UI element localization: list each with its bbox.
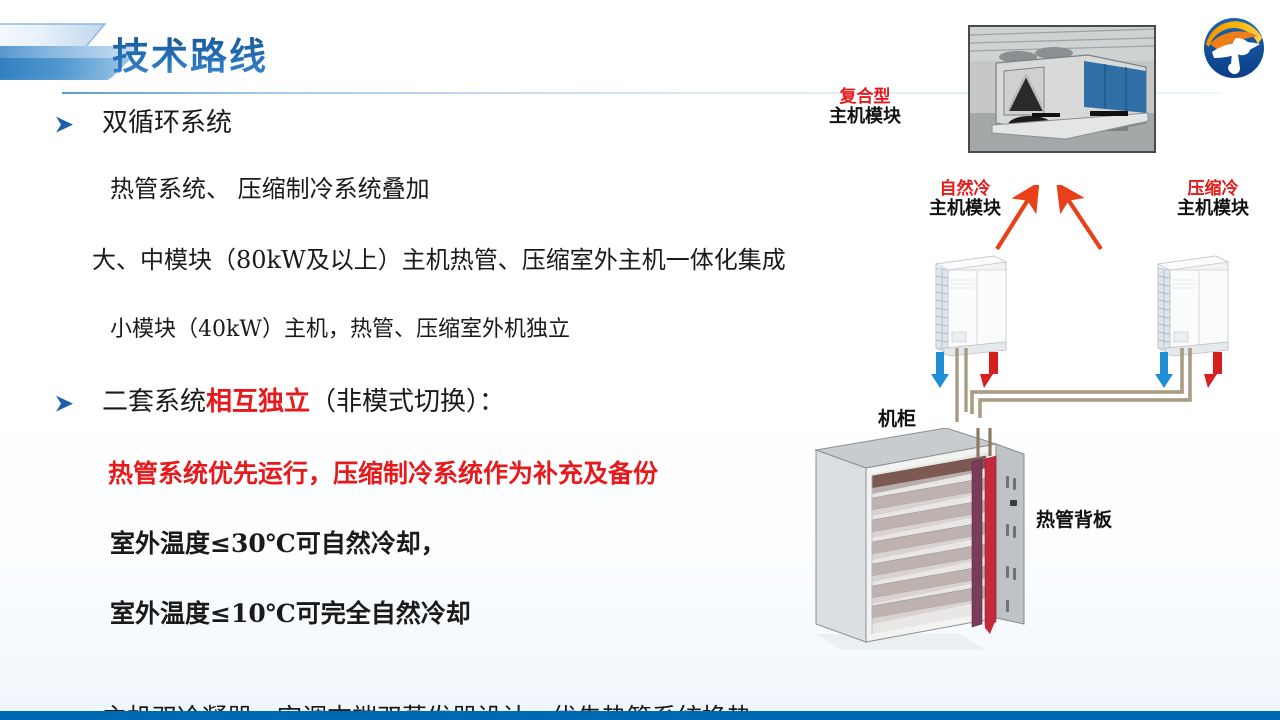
bullet-text-7: 室外温度≤30℃可自然冷却， [110,529,446,558]
label-heatpipe-backplane: 热管背板 [1036,505,1112,532]
system-diagram: 复合型 主机模块 自然冷 主机模块 压缩冷 主机模块 [790,0,1280,720]
bullet-arrow-icon [54,110,80,130]
label-compressor-line1: 压缩冷 [1148,180,1278,199]
label-composite-line2: 主机模块 [790,107,940,127]
bullet-text-5c: （非模式切换）： [310,387,505,417]
bullet-item-1: 双循环系统 [54,102,914,139]
label-composite-module: 复合型 主机模块 [790,88,940,127]
bullet-text-5a: 二套系统 [102,387,206,417]
label-compressor-line2: 主机模块 [1148,199,1278,219]
converging-arrows-icon [985,185,1115,255]
bullet-list: 双循环系统 热管系统、 压缩制冷系统叠加 大、中模块（80kW及以上）主机热管、… [0,96,860,488]
outdoor-unit-freecool [930,250,1008,356]
composite-chiller-photo [968,25,1156,153]
label-compressor-module: 压缩冷 主机模块 [1148,180,1278,219]
bullet-text-1: 双循环系统 [102,108,232,138]
flow-up-arrow [980,352,1222,388]
bottom-accent-bar [0,711,1280,720]
bullet-text-4: 小模块（40kW）主机，热管、压缩室外机独立 [110,317,570,342]
server-rack [810,428,1040,670]
bullet-text-6: 热管系统优先运行，压缩制冷系统作为补充及备份 [108,459,658,488]
bullet-text-2: 热管系统、 压缩制冷系统叠加 [110,175,430,203]
page-title: 技术路线 [112,26,268,80]
label-composite-line1: 复合型 [790,88,940,107]
bullet-text-5b-highlight: 相互独立 [206,387,310,417]
bullet-item-5: 二套系统相互独立（非模式切换）： [54,381,914,418]
bullet-text-3: 大、中模块（80kW及以上）主机热管、压缩室外主机一体化集成 [92,246,786,274]
bullet-text-8: 室外温度≤10℃可完全自然冷却 [110,599,471,628]
bullet-arrow-icon [54,389,80,409]
label-cabinet: 机柜 [878,404,916,431]
outdoor-unit-compressor [1152,250,1230,356]
